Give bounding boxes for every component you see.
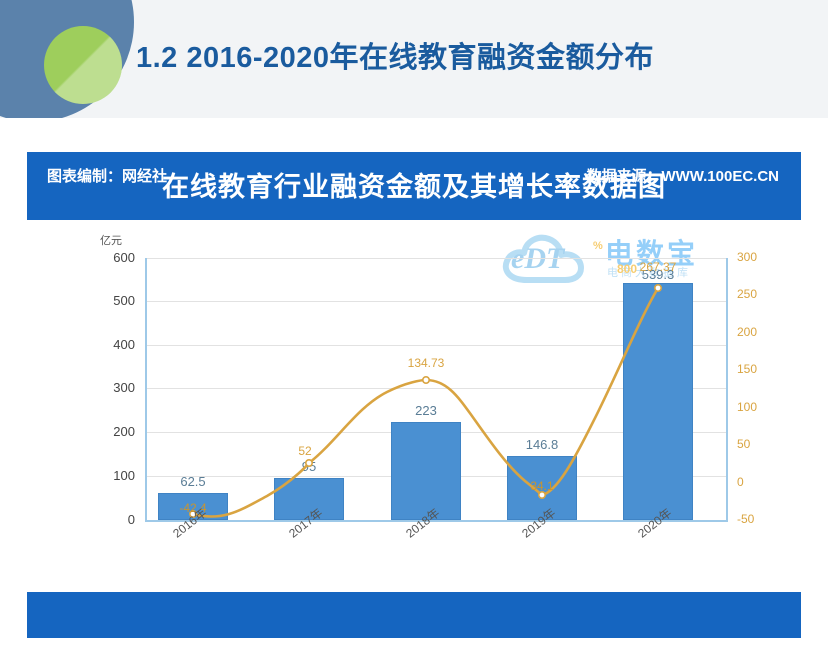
y-axis-unit-label: 亿元 [100, 232, 122, 248]
line-label-2019: 34.1 [530, 479, 553, 493]
line-point-2018 [423, 377, 429, 383]
y-tick-400: 400 [89, 337, 135, 352]
y2-tick-neg50: -50 [737, 512, 787, 526]
y-tick-500: 500 [89, 293, 135, 308]
bar-2018[interactable] [391, 422, 461, 520]
gridline-600 [145, 258, 727, 259]
line-label-2017: 52 [298, 444, 311, 458]
y-tick-0: 0 [89, 512, 135, 527]
bar-label-2017: 95 [302, 459, 316, 474]
y2-tick-0: 0 [737, 475, 787, 489]
y2-tick-100: 100 [737, 400, 787, 414]
y-tick-600: 600 [89, 250, 135, 265]
line-label-2020: 267.37 [640, 260, 677, 274]
y2-tick-250: 250 [737, 287, 787, 301]
y2-tick-150: 150 [737, 362, 787, 376]
chart-footer-bar [27, 592, 801, 638]
page-title: 1.2 2016-2020年在线教育融资金额分布 [136, 34, 654, 76]
footer-source: 数据来源：WWW.100EC.CN [586, 165, 779, 186]
y-tick-100: 100 [89, 468, 135, 483]
watermark-percent-icon: % [593, 240, 603, 252]
watermark-badge: 800 [617, 262, 637, 276]
y2-tick-300: 300 [737, 250, 787, 264]
footer-credit: 图表编制：网经社 [47, 165, 167, 186]
y-tick-200: 200 [89, 424, 135, 439]
bar-label-2016: 62.5 [180, 474, 205, 489]
y-axis-line [145, 258, 147, 522]
watermark: eDT % 电数宝 电商大数据库 800 [497, 226, 717, 288]
y2-tick-50: 50 [737, 437, 787, 451]
bar-label-2019: 146.8 [526, 437, 559, 452]
y-tick-300: 300 [89, 380, 135, 395]
page-header: 1.2 2016-2020年在线教育融资金额分布 [0, 0, 828, 118]
watermark-logo-text: eDT [511, 242, 564, 276]
bar-2020[interactable] [623, 283, 693, 520]
y2-axis-line [726, 258, 728, 522]
line-label-2018: 134.73 [408, 356, 445, 370]
green-circle-highlight-icon [44, 26, 122, 104]
bar-label-2018: 223 [415, 403, 437, 418]
y2-tick-200: 200 [737, 325, 787, 339]
chart-card: 在线教育行业融资金额及其增长率数据图 eDT % 电数宝 电商大数据库 800 … [27, 152, 801, 638]
cloud-icon [497, 230, 615, 288]
chart-plot-area: eDT % 电数宝 电商大数据库 800 亿元 600 500 400 300 … [27, 220, 801, 592]
